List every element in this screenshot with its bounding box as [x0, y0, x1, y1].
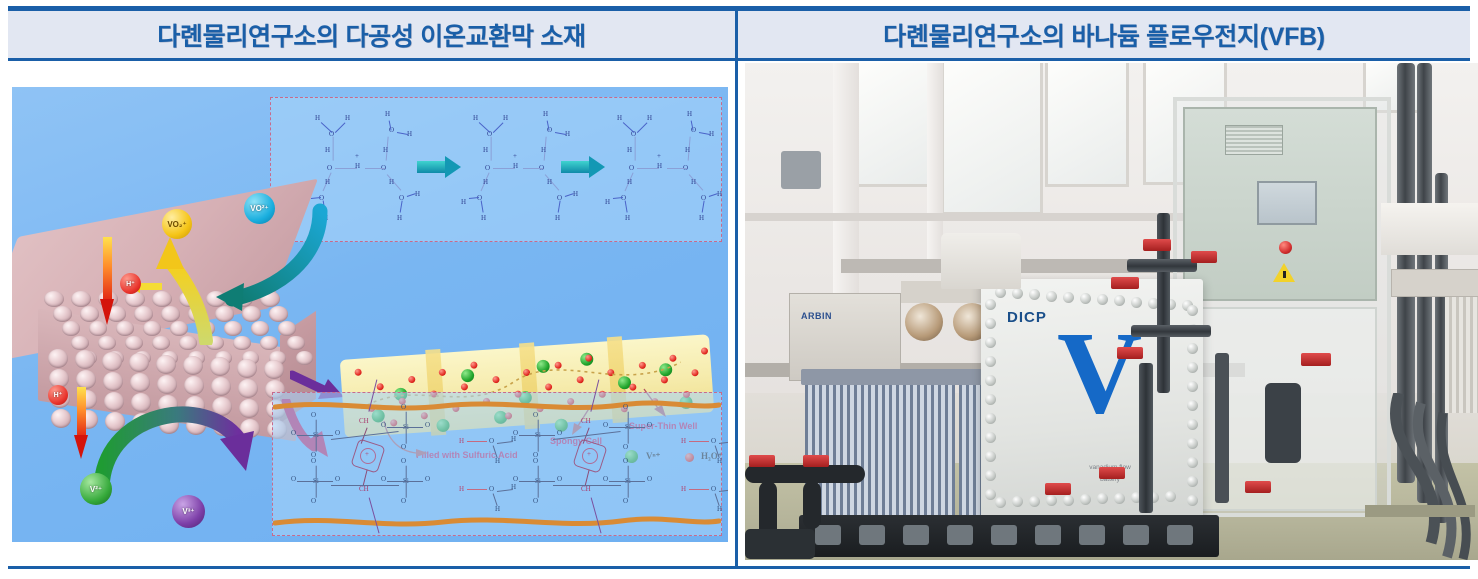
- electrolyte-tank: [941, 233, 1021, 289]
- atom-label: H: [461, 198, 466, 206]
- pipe-horizontal-2: [1131, 325, 1211, 337]
- atom-label: O: [557, 475, 562, 483]
- atom-label: O: [291, 475, 296, 483]
- atom-label: O: [381, 475, 386, 483]
- atom-label: H: [717, 457, 722, 465]
- atom-label: H: [459, 437, 464, 445]
- pallet-opening: [903, 525, 929, 545]
- atom-label: O: [603, 421, 608, 429]
- atom-label: H: [691, 178, 696, 186]
- chemical-bond: [405, 466, 406, 498]
- chemical-bond: [315, 466, 316, 498]
- left-panel-title: 다롄물리연구소의 다공성 이온교환막 소재: [157, 17, 586, 53]
- pipe-vertical-1: [1139, 363, 1153, 513]
- atom-label: H: [717, 505, 722, 513]
- pore: [71, 336, 89, 350]
- hose-3: [803, 481, 821, 529]
- atom-label: H: [699, 214, 704, 222]
- pore: [53, 306, 72, 322]
- atom-label: H: [617, 114, 622, 122]
- atom-label: H: [625, 214, 630, 222]
- atom-label: H: [315, 114, 320, 122]
- chemical-bond: [479, 122, 491, 133]
- chemical-bond: [537, 466, 538, 498]
- atom-label: H: [605, 198, 610, 206]
- vfb-system-photograph: ARBIN DICP V vanadium flow battery: [745, 63, 1478, 560]
- hose-valve-1: [749, 455, 775, 467]
- pore: [278, 321, 296, 336]
- pallet-opening: [991, 525, 1017, 545]
- chemical-bond: [624, 201, 627, 213]
- atom-label: H: [555, 214, 560, 222]
- chemical-bond: [637, 168, 659, 169]
- atom-label: O: [647, 475, 652, 483]
- pore-front: [75, 350, 95, 369]
- cable-loops: [1385, 393, 1478, 560]
- chemical-bond: [335, 168, 357, 169]
- pallet-opening: [1079, 525, 1105, 545]
- hose-1: [745, 465, 865, 483]
- pallet-opening: [859, 525, 885, 545]
- chemical-bond: [467, 441, 487, 442]
- chemical-bond: [523, 168, 543, 169]
- pallet-opening: [1035, 525, 1061, 545]
- atom-label: +: [657, 152, 661, 160]
- atom-label: CH: [359, 417, 369, 425]
- atom-label: O: [489, 437, 494, 445]
- atom-label: O: [327, 164, 332, 172]
- chemical-bond: [315, 420, 316, 452]
- atom-label: O: [381, 421, 386, 429]
- rear-window: [1381, 203, 1478, 255]
- chemical-bond: [689, 489, 709, 490]
- atom-label: CH: [359, 485, 369, 493]
- ion-v-2plus: V²⁺: [80, 473, 112, 505]
- ion-v-3plus: V³⁺: [172, 495, 205, 528]
- pallet-openings: [745, 63, 1478, 560]
- header-cell-right: 다롄물리연구소의 바나듐 플로우전지(VFB): [738, 11, 1470, 58]
- atom-label: O: [623, 403, 628, 411]
- valve-handle-5: [1099, 467, 1125, 479]
- wall-panel-box: [1391, 269, 1478, 297]
- ion-h-plus-bottom: H⁺: [48, 385, 68, 405]
- polymer-structure-panel: SiOOOOSiOOOOSiOOOOSiOOOO+CHCHHOHHHOHHSiO…: [272, 392, 722, 536]
- atom-label: H: [385, 110, 390, 118]
- header-cell-left: 다롄물리연구소의 다공성 이온교환막 소재: [8, 11, 735, 58]
- chemical-bond: [335, 122, 346, 133]
- atom-label: O: [291, 429, 296, 437]
- atom-label: H: [681, 485, 686, 493]
- atom-label: O: [401, 443, 406, 451]
- pore: [98, 336, 116, 350]
- valve-handle-4: [1117, 347, 1143, 359]
- chemical-bond: [331, 485, 399, 486]
- atom-label: H: [481, 214, 486, 222]
- chemical-bond: [467, 489, 487, 490]
- chemical-bond: [719, 489, 728, 492]
- pore: [80, 306, 99, 322]
- pallet-opening: [1167, 525, 1193, 545]
- atom-label: O: [335, 475, 340, 483]
- pore: [62, 321, 80, 336]
- pallet-opening: [1123, 525, 1149, 545]
- atom-label: H: [541, 146, 546, 154]
- atom-label: H: [627, 146, 632, 154]
- atom-label: O: [623, 443, 628, 451]
- atom-label: CH: [581, 417, 591, 425]
- atom-label: O: [603, 475, 608, 483]
- atom-label: O: [533, 411, 538, 419]
- chemical-bond: [590, 497, 601, 533]
- chemical-bond: [623, 122, 635, 133]
- chemical-bond: [368, 497, 379, 533]
- atom-label: O: [335, 429, 340, 437]
- chemical-bond: [321, 122, 333, 133]
- silica-polymer-network: SiOOOOSiOOOOSiOOOOSiOOOO+CHCHHOHHHOHHSiO…: [273, 393, 721, 535]
- atom-label: H: [383, 146, 388, 154]
- chemical-bond: [399, 201, 402, 213]
- ion-vo-2plus: VO²⁺: [244, 193, 275, 224]
- atom-label: +: [587, 450, 591, 458]
- chemical-bond: [627, 412, 628, 444]
- ion-h-plus-top: H⁺: [120, 273, 141, 294]
- atom-label: O: [623, 497, 628, 505]
- atom-label: H: [543, 110, 548, 118]
- reaction-arrow-2: [561, 156, 605, 178]
- atom-label: H: [397, 214, 402, 222]
- atom-label: O: [311, 411, 316, 419]
- valve-handle-3: [1191, 251, 1217, 263]
- chemical-bond: [689, 441, 709, 442]
- valve-handle-6: [1045, 483, 1071, 495]
- atom-label: H: [627, 178, 632, 186]
- chemical-bond: [365, 168, 385, 169]
- atom-label: H: [483, 146, 488, 154]
- atom-label: O: [533, 457, 538, 465]
- atom-label: H: [681, 437, 686, 445]
- atom-label: O: [311, 457, 316, 465]
- chemical-bond: [714, 493, 719, 505]
- pore: [44, 291, 64, 307]
- pore: [296, 351, 313, 365]
- pore: [260, 336, 278, 350]
- figure-page: 다롄물리연구소의 다공성 이온교환막 소재 다롄물리연구소의 바나듐 플로우전지…: [0, 0, 1478, 579]
- chemical-bond: [719, 441, 728, 444]
- pore: [251, 321, 269, 336]
- reaction-arrow-1: [417, 156, 461, 178]
- atom-label: H: [389, 178, 394, 186]
- chemical-bond: [332, 137, 333, 161]
- pore-front: [102, 352, 122, 371]
- chemical-bond: [553, 485, 621, 486]
- atom-label: H: [495, 457, 500, 465]
- atom-label: O: [513, 475, 518, 483]
- atom-label: H: [325, 146, 330, 154]
- pore: [287, 336, 305, 350]
- pore-front: [156, 355, 176, 374]
- valve-handle-2: [1111, 277, 1139, 289]
- atom-label: O: [513, 429, 518, 437]
- pore: [116, 321, 134, 336]
- atom-label: H: [473, 114, 478, 122]
- chemical-bond: [480, 201, 483, 213]
- figure-bottom-rule: [8, 566, 1470, 569]
- atom-label: O: [401, 457, 406, 465]
- pore-front: [129, 353, 149, 372]
- atom-label: H: [685, 146, 690, 154]
- hose-valve-2: [803, 455, 829, 467]
- chemical-bond: [405, 412, 406, 444]
- pore: [71, 291, 91, 307]
- atom-label: CH: [581, 485, 591, 493]
- proton-down-arrow-top: [100, 237, 115, 327]
- membrane-illustration: OHO+OHHHOHHHOHHHOHHHOHO+OHHHOHHHOHHHOHHH…: [12, 87, 728, 542]
- chemical-bond: [492, 445, 497, 457]
- chemical-bond: [627, 466, 628, 498]
- atom-label: O: [711, 485, 716, 493]
- chemical-bond: [584, 469, 589, 485]
- chemical-bond: [667, 168, 687, 169]
- chemical-bond: [492, 493, 497, 505]
- chemical-bond: [493, 122, 504, 133]
- pore-front: [51, 409, 71, 428]
- pore-front: [183, 356, 203, 375]
- atom-label: O: [489, 485, 494, 493]
- atom-label: O: [425, 421, 430, 429]
- right-panel-title: 다롄물리연구소의 바나듐 플로우전지(VFB): [883, 17, 1325, 53]
- atom-label: H: [547, 178, 552, 186]
- chemical-bond: [490, 137, 491, 161]
- atom-label: +: [355, 152, 359, 160]
- atom-label: H: [325, 178, 330, 186]
- water-network-diagram: OHO+OHHHOHHHOHHHOHHHOHO+OHHHOHHHOHHHOHHH…: [271, 98, 721, 241]
- chemical-bond: [537, 420, 538, 452]
- atom-label: +: [365, 450, 369, 458]
- atom-label: H: [459, 485, 464, 493]
- valve-handle-1: [1143, 239, 1171, 251]
- pore-front: [48, 349, 68, 368]
- header-bottom-rule: [8, 58, 1470, 61]
- floor-shadow-right: [1365, 505, 1475, 517]
- vanadium-crossover-arrow: [88, 375, 268, 495]
- wall-radiator: [1445, 293, 1478, 413]
- atom-label: H: [483, 178, 488, 186]
- atom-label: O: [485, 164, 490, 172]
- atom-label: O: [533, 497, 538, 505]
- body-column-divider: [735, 61, 738, 569]
- chemical-bond: [637, 122, 648, 133]
- proton-down-arrow-bottom: [74, 387, 89, 467]
- atom-label: H: [503, 114, 508, 122]
- pallet-opening: [947, 525, 973, 545]
- atom-label: O: [647, 421, 652, 429]
- atom-label: O: [401, 403, 406, 411]
- atom-label: H: [345, 114, 350, 122]
- atom-label: H: [687, 110, 692, 118]
- atom-label: H: [495, 505, 500, 513]
- ion-vo2-plus: VO₂⁺: [162, 209, 192, 239]
- atom-label: O: [311, 497, 316, 505]
- atom-label: +: [513, 152, 517, 160]
- chemical-bond: [362, 469, 367, 485]
- atom-label: O: [425, 475, 430, 483]
- chemical-bond: [634, 137, 635, 161]
- atom-label: H: [647, 114, 652, 122]
- hose-tray: [745, 529, 815, 559]
- atom-label: O: [623, 457, 628, 465]
- chemical-bond: [493, 168, 515, 169]
- atom-label: O: [557, 429, 562, 437]
- pallet-opening: [815, 525, 841, 545]
- atom-label: O: [401, 497, 406, 505]
- atom-label: O: [629, 164, 634, 172]
- chemical-bond: [557, 201, 560, 213]
- atom-label: O: [711, 437, 716, 445]
- pipe-horizontal-1: [1127, 259, 1197, 272]
- chemical-bond: [714, 445, 719, 457]
- chemical-bond: [701, 201, 704, 213]
- pore-front: [210, 357, 230, 376]
